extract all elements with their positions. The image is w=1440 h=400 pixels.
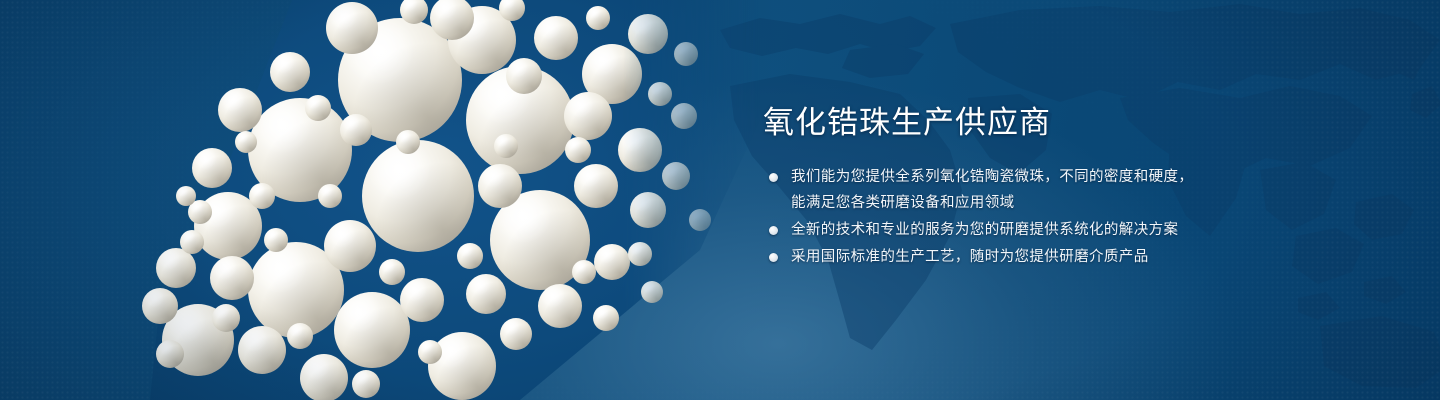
- list-item: 全新的技术和专业的服务为您的研磨提供系统化的解决方案: [763, 217, 1323, 243]
- bullet-dot-icon: [769, 253, 778, 262]
- banner-title: 氧化锆珠生产供应商: [763, 104, 1323, 142]
- bullet-dot-icon: [769, 173, 778, 182]
- hero-banner: 氧化锆珠生产供应商 我们能为您提供全系列氧化锆陶瓷微珠，不同的密度和硬度， 能满…: [0, 0, 1440, 400]
- list-item-line: 能满足您各类研磨设备和应用领域: [791, 190, 1323, 216]
- list-item: 采用国际标准的生产工艺，随时为您提供研磨介质产品: [763, 244, 1323, 270]
- banner-content: 氧化锆珠生产供应商 我们能为您提供全系列氧化锆陶瓷微珠，不同的密度和硬度， 能满…: [763, 104, 1323, 270]
- list-item-line: 采用国际标准的生产工艺，随时为您提供研磨介质产品: [791, 244, 1323, 270]
- list-item-line: 全新的技术和专业的服务为您的研磨提供系统化的解决方案: [791, 217, 1323, 243]
- bullet-dot-icon: [769, 226, 778, 235]
- list-item: 我们能为您提供全系列氧化锆陶瓷微珠，不同的密度和硬度， 能满足您各类研磨设备和应…: [763, 164, 1323, 216]
- banner-feature-list: 我们能为您提供全系列氧化锆陶瓷微珠，不同的密度和硬度， 能满足您各类研磨设备和应…: [763, 164, 1323, 270]
- list-item-line: 我们能为您提供全系列氧化锆陶瓷微珠，不同的密度和硬度，: [791, 164, 1323, 190]
